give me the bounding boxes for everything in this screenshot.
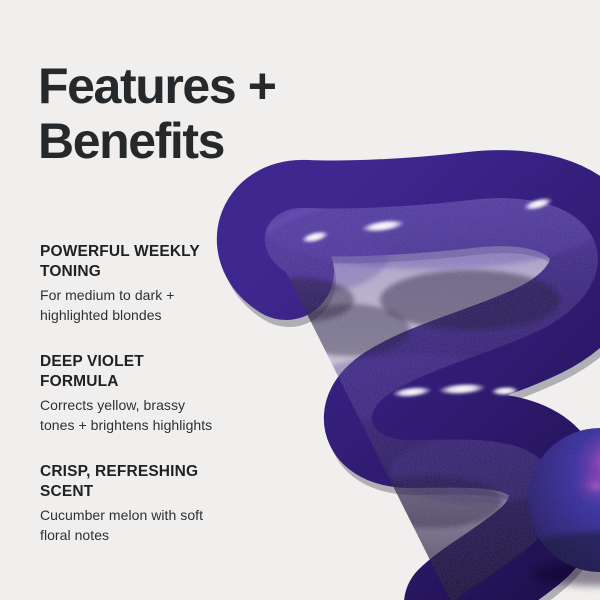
feature-item-toning: POWERFUL WEEKLY TONING For medium to dar… [40, 242, 255, 325]
feature-item-formula: DEEP VIOLET FORMULA Corrects yellow, bra… [40, 352, 255, 435]
feature-description: For medium to dark + highlighted blondes [40, 285, 255, 325]
features-benefits-page: Features + Benefits POWERFUL WEEKLY TONI… [0, 0, 600, 600]
feature-description: Corrects yellow, brassy tones + brighten… [40, 395, 255, 435]
feature-heading: POWERFUL WEEKLY TONING [40, 242, 255, 282]
feature-heading: DEEP VIOLET FORMULA [40, 352, 255, 392]
content-layer: Features + Benefits POWERFUL WEEKLY TONI… [0, 0, 600, 600]
feature-description: Cucumber melon with soft floral notes [40, 505, 255, 545]
feature-heading: CRISP, REFRESHING SCENT [40, 462, 255, 502]
feature-list: POWERFUL WEEKLY TONING For medium to dar… [40, 242, 255, 545]
feature-item-scent: CRISP, REFRESHING SCENT Cucumber melon w… [40, 462, 255, 545]
page-title: Features + Benefits [38, 59, 368, 169]
